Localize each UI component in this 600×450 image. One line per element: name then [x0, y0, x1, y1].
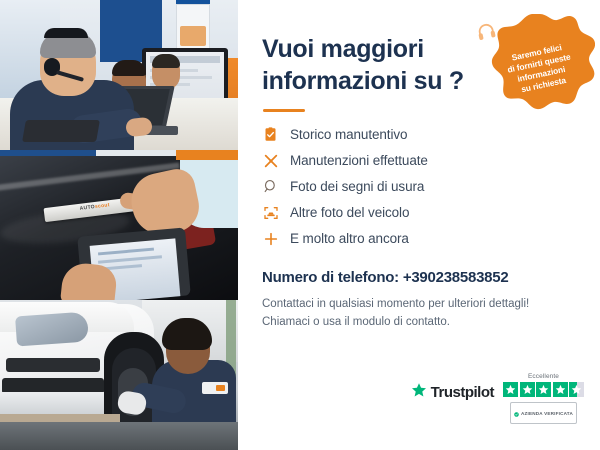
contact-subtext-line-1: Contattaci in qualsiasi momento per ulte… [262, 295, 582, 313]
second-agent-hair [112, 60, 146, 76]
contact-subtext-line-2: Chiamaci o usa il modulo di contatto. [262, 313, 582, 331]
star-half-icon [569, 382, 584, 397]
badge-text: Saremo felici di fornirti queste informa… [504, 41, 576, 98]
trustpilot-score-block: Eccellente [503, 373, 584, 424]
list-item-label: Altre foto del veicolo [290, 205, 409, 220]
workbench-decor [0, 422, 238, 450]
wheel-check-photo [0, 300, 238, 450]
contact-subtext: Contattaci in qualsiasi momento per ulte… [262, 295, 582, 331]
trustpilot-rating[interactable]: Trustpilot Eccellente [411, 373, 584, 424]
poster-image-decor [180, 26, 206, 46]
photo-column: AUTOscout [0, 0, 238, 450]
third-agent-hair [152, 54, 180, 68]
vehicle-inspection-photo: AUTOscout [0, 150, 238, 300]
trustpilot-star-icon [411, 382, 427, 403]
star-filled-icon [553, 382, 568, 397]
list-item: Storico manutentivo [262, 126, 582, 143]
call-center-agents-photo [0, 0, 238, 150]
verified-badge-label: AZIENDA VERIFICATA [521, 411, 573, 416]
list-item: Foto dei segni di usura [262, 178, 582, 195]
car-scan-icon [262, 204, 279, 221]
callout-badge: Saremo felici di fornirti queste informa… [485, 12, 595, 124]
list-item: E molto altro ancora [262, 230, 582, 247]
car-grille-decor [6, 358, 100, 372]
car-headlight-decor [15, 312, 89, 347]
trustpilot-wordmark: Trustpilot [431, 384, 494, 401]
phone-number-text: Numero di telefono: +390238583852 [262, 269, 582, 286]
feature-list: Storico manutentivo Manutenzioni effettu… [262, 126, 582, 247]
headset-band-decor [44, 28, 88, 38]
star-filled-icon [520, 382, 535, 397]
trustpilot-stars [503, 382, 584, 397]
verified-company-badge: AZIENDA VERIFICATA [510, 402, 577, 424]
list-item-label: Storico manutentivo [290, 127, 407, 142]
star-filled-icon [503, 382, 518, 397]
title-underline-rule [263, 109, 305, 112]
photo-top-orange-strip [176, 150, 238, 160]
list-item-label: E molto altro ancora [290, 231, 409, 246]
plus-icon [262, 230, 279, 247]
verified-check-icon [514, 404, 519, 422]
trustpilot-rating-label: Eccellente [528, 373, 559, 380]
photo-top-blue-strip [0, 150, 96, 156]
list-item-label: Manutenzioni effettuate [290, 153, 428, 168]
tablet-decor [22, 120, 100, 142]
trustpilot-logo: Trustpilot [411, 373, 494, 403]
content-panel: Vuoi maggiori informazioni su ? Storico … [238, 0, 600, 450]
star-filled-icon [536, 382, 551, 397]
tools-cross-icon [262, 152, 279, 169]
list-item: Manutenzioni effettuate [262, 152, 582, 169]
advertisement-banner: AUTOscout [0, 0, 600, 450]
magnifier-icon [262, 178, 279, 195]
clipboard-check-icon [262, 126, 279, 143]
list-item-label: Foto dei segni di usura [290, 179, 424, 194]
list-item: Altre foto del veicolo [262, 204, 582, 221]
mechanic-badge-mark [216, 385, 225, 391]
